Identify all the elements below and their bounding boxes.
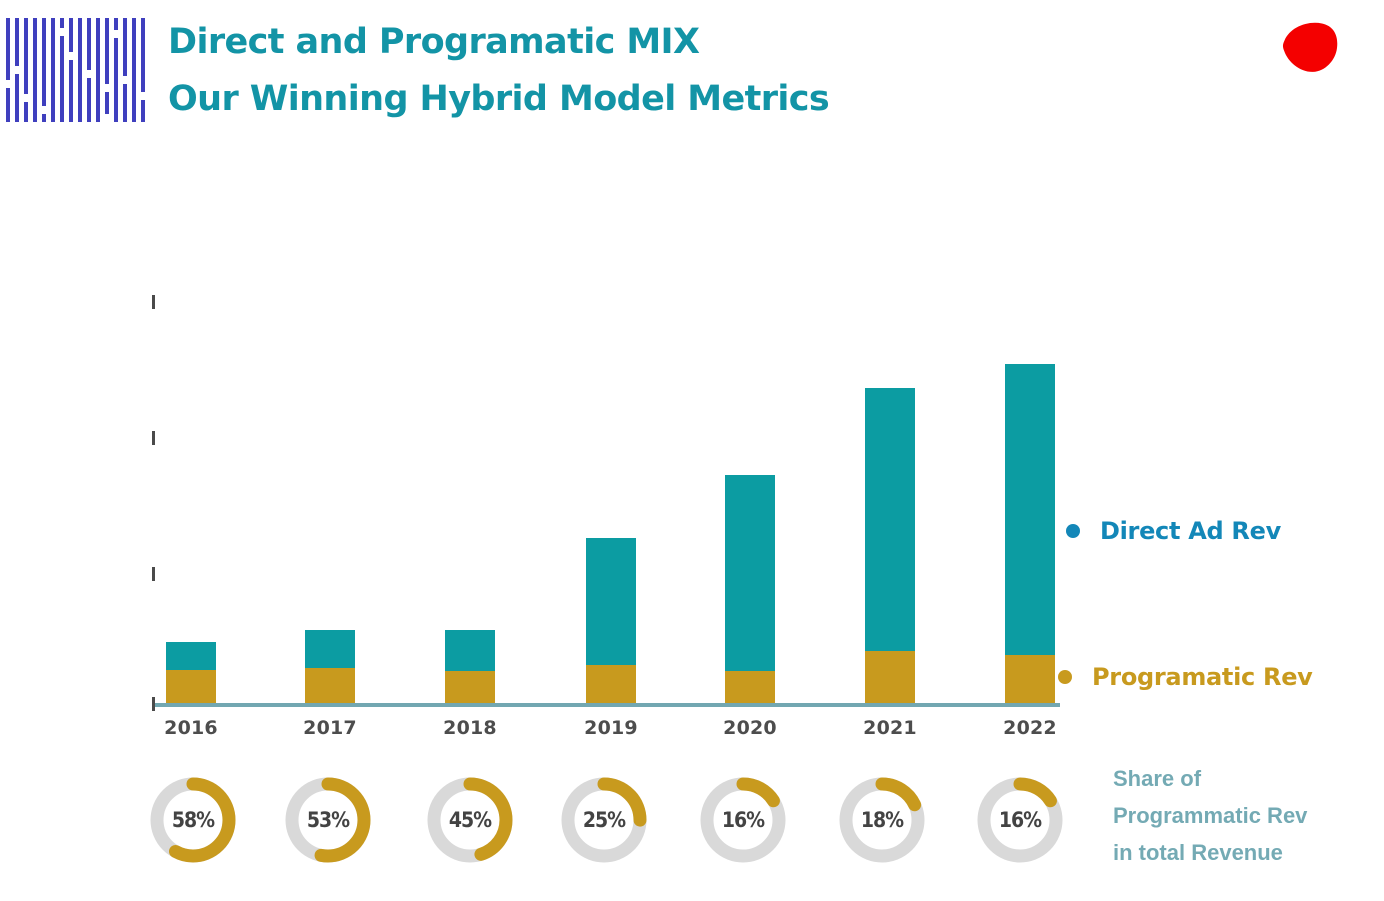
caption-line-2: Programmatic Rev [1113, 797, 1375, 834]
donut-gauge-2019[interactable]: 25% [561, 777, 647, 863]
x-axis-line [155, 703, 1060, 707]
y-axis-tick [152, 697, 155, 711]
bar-segment-programmatic [445, 671, 495, 703]
red-blob-logo-icon [1281, 22, 1339, 72]
y-axis-tick [152, 567, 155, 581]
bar-group-2020[interactable] [725, 475, 775, 703]
x-axis-label-2020: 2020 [695, 717, 805, 739]
x-axis-label-2021: 2021 [835, 717, 945, 739]
donut-gauge-2021[interactable]: 18% [839, 777, 925, 863]
title-line-2: Our Winning Hybrid Model Metrics [168, 71, 1068, 128]
donut-gauge-2020[interactable]: 16% [700, 777, 786, 863]
donut-gauge-2017[interactable]: 53% [285, 777, 371, 863]
bar-group-2022[interactable] [1005, 364, 1055, 703]
donut-value-2018: 45% [427, 777, 513, 863]
bar-segment-direct [586, 538, 636, 665]
donut-gauge-2018[interactable]: 45% [427, 777, 513, 863]
y-axis-tick [152, 295, 155, 309]
bar-segment-direct [725, 475, 775, 671]
bar-segment-direct [865, 388, 915, 651]
legend-item-programmatic-rev[interactable]: Programatic Rev [1058, 663, 1313, 691]
x-axis-label-2016: 2016 [136, 717, 246, 739]
caption-line-1: Share of [1113, 760, 1375, 797]
bar-segment-programmatic [166, 670, 216, 703]
donut-value-2022: 16% [977, 777, 1063, 863]
bar-group-2016[interactable] [166, 642, 216, 703]
bar-segment-programmatic [865, 651, 915, 703]
title-line-1: Direct and Programatic MIX [168, 14, 1068, 71]
x-axis-label-2019: 2019 [556, 717, 666, 739]
caption-line-3: in total Revenue [1113, 834, 1375, 871]
donut-value-2017: 53% [285, 777, 371, 863]
x-axis-label-2017: 2017 [275, 717, 385, 739]
x-axis-label-2022: 2022 [975, 717, 1085, 739]
bar-group-2019[interactable] [586, 538, 636, 703]
legend-label-direct: Direct Ad Rev [1100, 517, 1281, 545]
donut-value-2021: 18% [839, 777, 925, 863]
bar-segment-programmatic [586, 665, 636, 703]
page-title: Direct and Programatic MIX Our Winning H… [168, 14, 1068, 128]
legend-label-programmatic: Programatic Rev [1092, 663, 1313, 691]
legend-dot-direct-icon [1066, 524, 1080, 538]
bar-group-2021[interactable] [865, 388, 915, 703]
donut-gauge-2022[interactable]: 16% [977, 777, 1063, 863]
share-caption: Share of Programmatic Rev in total Reven… [1113, 760, 1375, 871]
donut-gauge-2016[interactable]: 58% [150, 777, 236, 863]
bar-segment-direct [166, 642, 216, 670]
x-axis-label-2018: 2018 [415, 717, 525, 739]
bar-segment-programmatic [305, 668, 355, 703]
legend-dot-programmatic-icon [1058, 670, 1072, 684]
donut-value-2020: 16% [700, 777, 786, 863]
bar-segment-programmatic [1005, 655, 1055, 703]
barcode-decoration-icon [4, 18, 146, 122]
donut-value-2016: 58% [150, 777, 236, 863]
bar-segment-direct [305, 630, 355, 668]
bar-segment-programmatic [725, 671, 775, 703]
bar-segment-direct [445, 630, 495, 671]
bar-group-2017[interactable] [305, 630, 355, 703]
y-axis-tick [152, 431, 155, 445]
bar-segment-direct [1005, 364, 1055, 655]
header-band: Direct and Programatic MIX Our Winning H… [0, 0, 1384, 140]
legend-item-direct-ad-rev[interactable]: Direct Ad Rev [1066, 517, 1281, 545]
donut-value-2019: 25% [561, 777, 647, 863]
bar-group-2018[interactable] [445, 630, 495, 703]
